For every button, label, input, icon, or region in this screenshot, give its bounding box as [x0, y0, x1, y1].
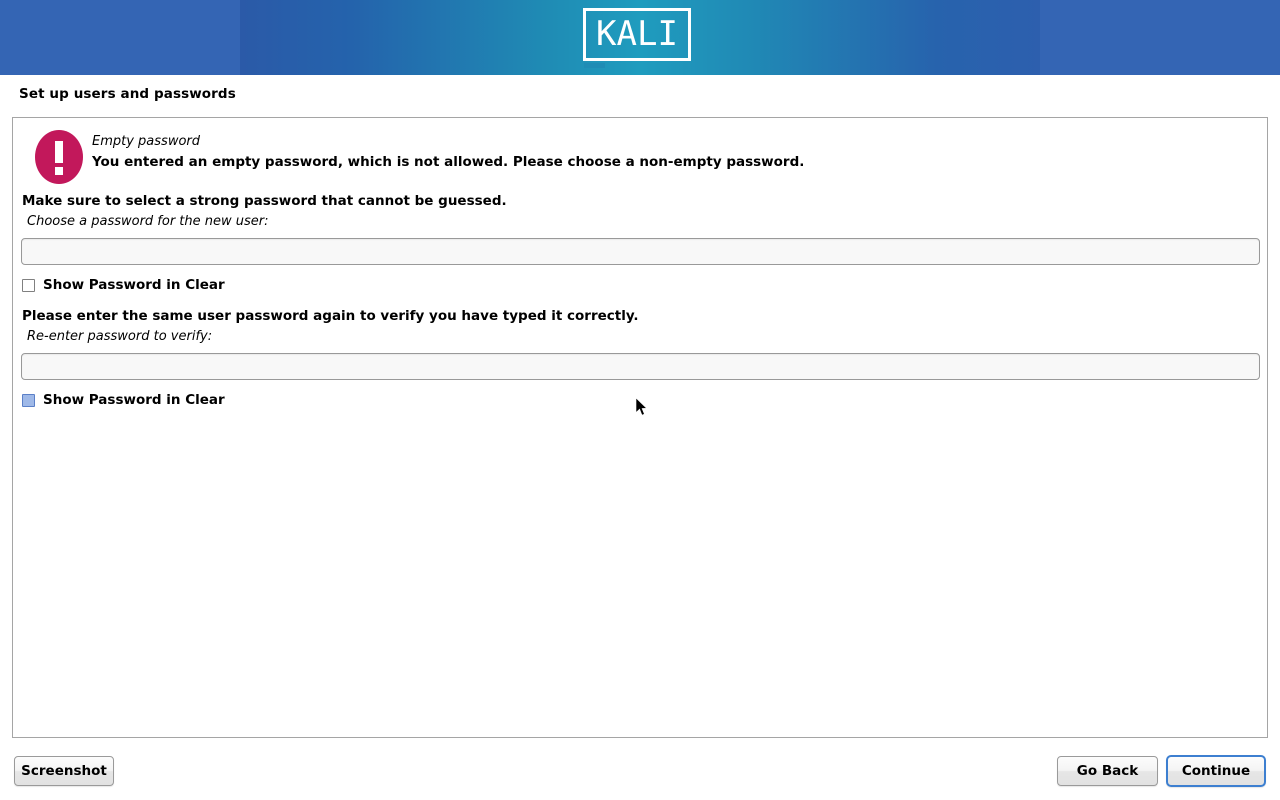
kali-installer-window: KALI Set up users and passwords Empty pa… [0, 0, 1280, 800]
kali-logo-notch [584, 63, 605, 68]
password-field-label: Choose a password for the new user: [27, 214, 269, 229]
mouse-cursor [636, 398, 648, 417]
verify-hint: Please enter the same user password agai… [22, 308, 639, 324]
screenshot-button[interactable]: Screenshot [14, 756, 114, 786]
verify-password-input[interactable] [21, 353, 1260, 380]
header-banner: KALI [0, 0, 1280, 75]
password-hint: Make sure to select a strong password th… [22, 193, 507, 209]
exclamation-bar [55, 141, 63, 163]
go-back-button[interactable]: Go Back [1057, 756, 1158, 786]
page-title: Set up users and passwords [19, 86, 236, 102]
show-password-checkbox-1[interactable] [22, 279, 35, 292]
alert-title: Empty password [92, 134, 200, 149]
verify-field-label: Re-enter password to verify: [27, 329, 212, 344]
kali-logo: KALI [583, 8, 697, 67]
kali-logo-text: KALI [583, 8, 691, 61]
password-input[interactable] [21, 238, 1260, 265]
show-password-checkbox-2[interactable] [22, 394, 35, 407]
main-panel: Empty password You entered an empty pass… [12, 117, 1268, 738]
show-password-checkbox-row-1[interactable]: Show Password in Clear [22, 277, 225, 293]
show-password-checkbox-row-2[interactable]: Show Password in Clear [22, 392, 225, 408]
error-exclamation-icon [35, 130, 83, 184]
exclamation-dot [55, 167, 63, 175]
continue-button[interactable]: Continue [1166, 755, 1266, 787]
alert-message: You entered an empty password, which is … [92, 154, 804, 170]
show-password-checkbox-label-1: Show Password in Clear [43, 277, 225, 293]
show-password-checkbox-label-2: Show Password in Clear [43, 392, 225, 408]
